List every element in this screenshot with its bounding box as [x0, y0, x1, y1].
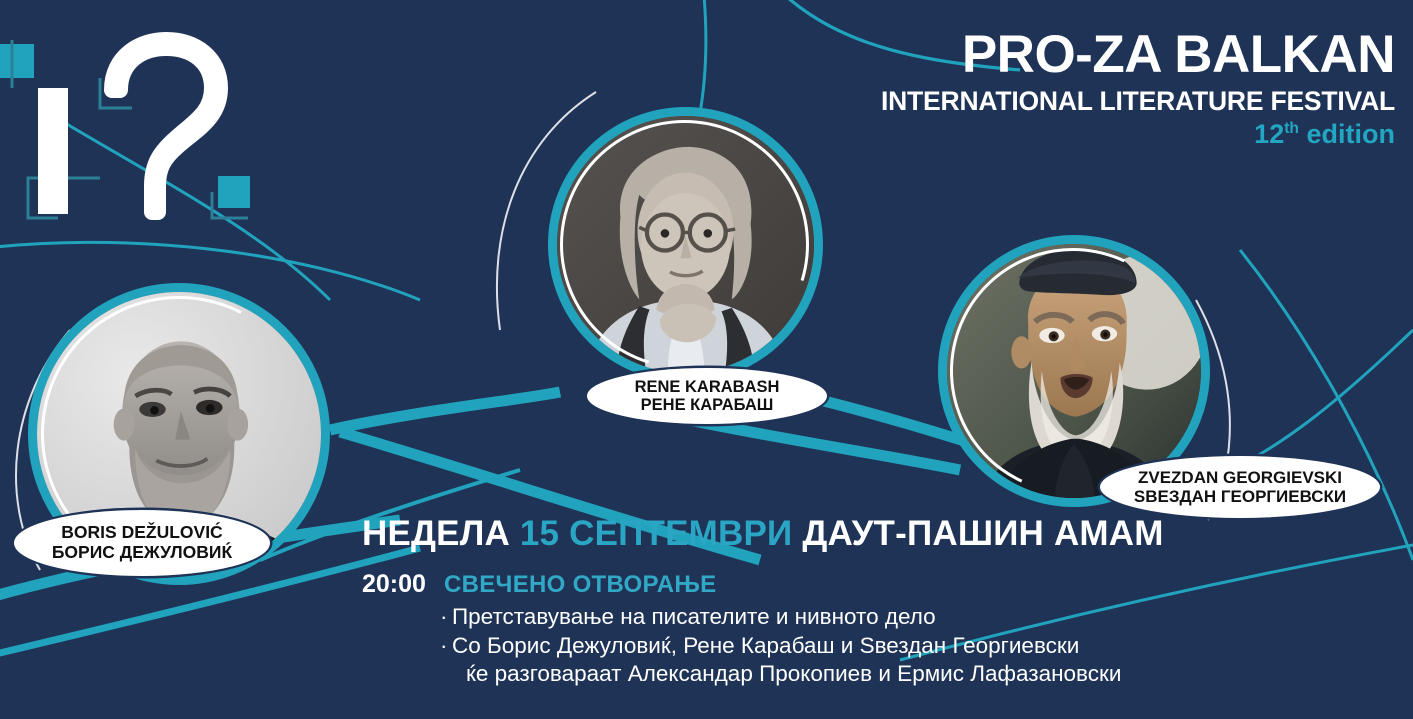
teal-square — [0, 44, 34, 78]
portrait-photo — [557, 116, 814, 373]
name-cyrillic: РЕНЕ КАРАБАШ — [641, 396, 774, 414]
name-label-boris-dezulovic: BORIS DEŽULOVIĆ БОРИС ДЕЖУЛОВИЌ — [14, 510, 270, 576]
bullet-icon: · — [440, 632, 452, 661]
event-headline: НЕДЕЛА 15 СЕПТЕМВРИ ДАУТ-ПАШИН АМАМ — [362, 514, 1164, 554]
edition-ordinal: th — [1284, 120, 1299, 137]
edition-word: edition — [1299, 119, 1395, 149]
festival-subtitle: INTERNATIONAL LITERATURE FESTIVAL — [881, 88, 1395, 115]
festival-title-block: PRO-ZA BALKAN INTERNATIONAL LITERATURE F… — [881, 28, 1395, 148]
event-venue: ДАУТ-ПАШИН АМАМ — [802, 514, 1163, 553]
program-header: 20:00 СВЕЧЕНО ОТВОРАЊЕ — [362, 570, 1121, 599]
program-item-text: Претставување на писателите и нивното де… — [452, 604, 936, 629]
bullet-icon: · — [440, 603, 452, 632]
name-latin: ZVEZDAN GEORGIEVSKI — [1138, 468, 1342, 487]
name-latin: RENE KARABASH — [635, 378, 780, 396]
program-title: СВЕЧЕНО ОТВОРАЊЕ — [444, 571, 716, 599]
program-item: ·Претставување на писателите и нивното д… — [440, 603, 1121, 632]
program-item-text: Со Борис Дежуловиќ, Рене Карабаш и Ѕвезд… — [452, 633, 1079, 658]
program-item: ·Со Борис Дежуловиќ, Рене Карабаш и Ѕвез… — [440, 632, 1121, 689]
name-cyrillic: ЅВЕЗДАН ГЕОРГИЕВСКИ — [1134, 487, 1346, 506]
name-cyrillic: БОРИС ДЕЖУЛОВИЌ — [52, 543, 232, 563]
teal-square — [218, 176, 250, 208]
question-mark-glyph — [112, 40, 220, 212]
edition-number: 12 — [1254, 119, 1284, 149]
festival-title: PRO-ZA BALKAN — [881, 28, 1395, 81]
program-time: 20:00 — [362, 570, 426, 599]
festival-edition: 12th edition — [881, 121, 1395, 148]
festival-poster: PRO-ZA BALKAN INTERNATIONAL LITERATURE F… — [0, 0, 1413, 719]
portrait-photo — [947, 244, 1201, 498]
festival-logo-mark — [0, 0, 320, 250]
event-day: НЕДЕЛА — [362, 514, 510, 553]
portrait-rene-karabash — [548, 107, 823, 382]
quote-bar-glyph — [38, 88, 68, 214]
program-items: ·Претставување на писателите и нивното д… — [440, 603, 1121, 689]
program-block: 20:00 СВЕЧЕНО ОТВОРАЊЕ ·Претставување на… — [362, 570, 1121, 689]
event-date: 15 СЕПТЕМВРИ — [520, 514, 793, 553]
program-item-text-continued: ќе разговараат Александар Прокопиев и Ер… — [466, 660, 1121, 689]
name-latin: BORIS DEŽULOVIĆ — [61, 523, 222, 543]
name-label-rene-karabash: RENE KARABASH РЕНЕ КАРАБАШ — [587, 368, 827, 424]
name-label-zvezdan-georgievski: ZVEZDAN GEORGIEVSKI ЅВЕЗДАН ГЕОРГИЕВСКИ — [1100, 456, 1380, 518]
